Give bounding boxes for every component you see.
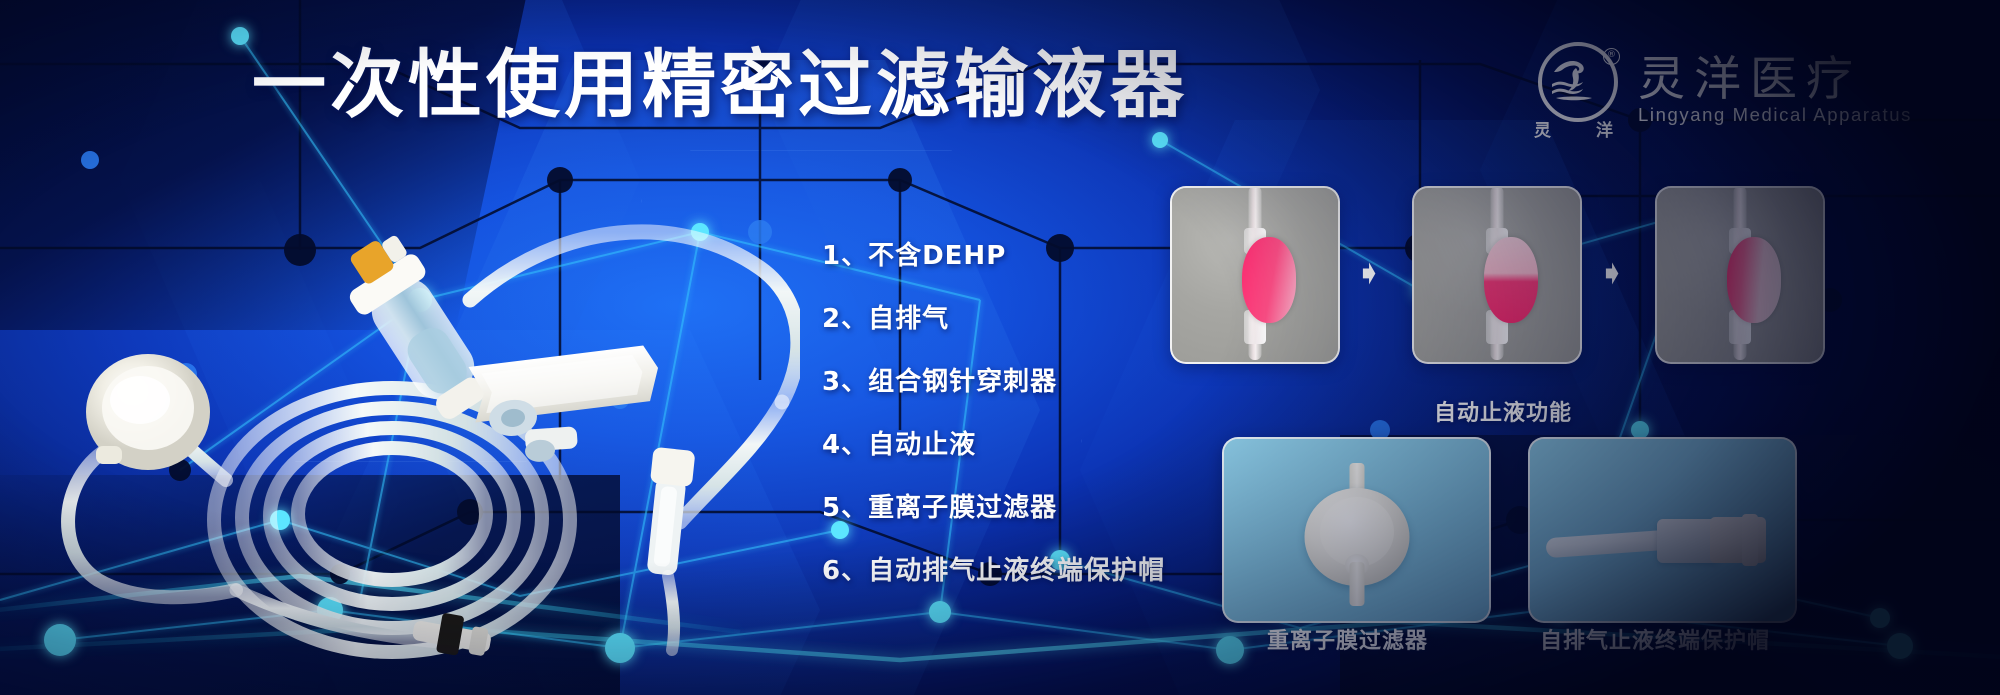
product-banner: 一次性使用精密过滤输液器 ® 灵 洋 灵洋医疗 Lingyang Med bbox=[0, 0, 2000, 695]
vignette-overlay bbox=[0, 0, 2000, 695]
